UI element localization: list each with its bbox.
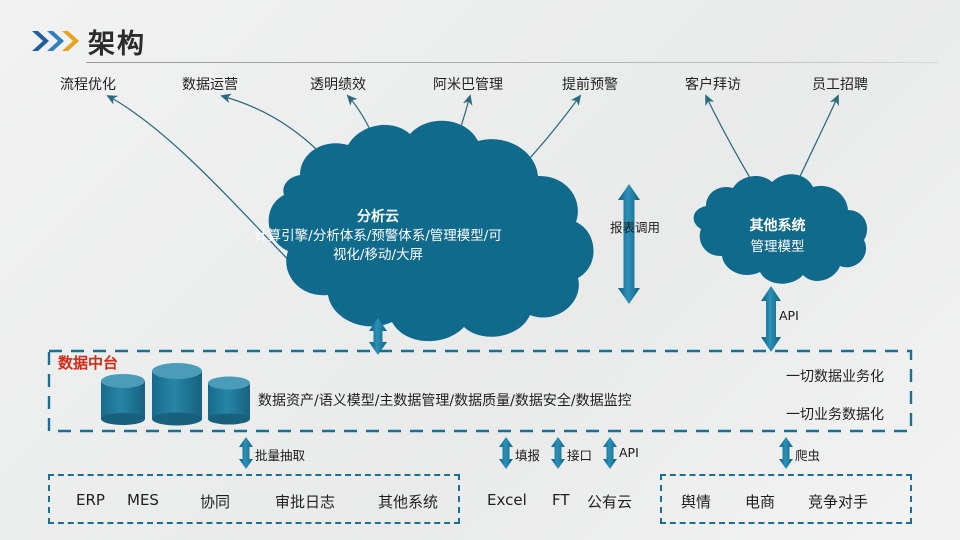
source-item[interactable]: 审批日志: [275, 491, 335, 512]
source-item[interactable]: 舆情: [681, 491, 711, 512]
source-item[interactable]: MES: [127, 491, 159, 509]
report-call-arrow: [618, 184, 640, 304]
source-item[interactable]: 电商: [745, 491, 775, 512]
source-item[interactable]: Excel: [487, 491, 527, 509]
outcome-label: 数据运营: [182, 74, 238, 94]
architecture-diagram: 架构: [0, 0, 960, 540]
band-side-label: 一切数据业务化: [786, 366, 884, 386]
data-platform-badge: 数据中台: [58, 352, 118, 373]
report-call-label: 报表调用: [610, 217, 660, 236]
cloud-api-label: API: [779, 308, 799, 323]
ingest-arrow-label: 接口: [567, 445, 592, 464]
data-cylinder: [101, 374, 145, 425]
ingest-arrow-label: 填报: [515, 445, 540, 464]
ingest-arrow-label: API: [619, 445, 639, 460]
outcome-label: 提前预警: [562, 74, 618, 94]
analysis-cloud-title: 分析云: [283, 208, 473, 227]
source-item[interactable]: FT: [552, 491, 570, 509]
outcome-label: 员工招聘: [812, 74, 868, 94]
data-cylinder: [152, 363, 202, 426]
other-cloud-title: 其他系统: [710, 216, 845, 237]
outcome-label: 客户拜访: [685, 74, 741, 94]
outcome-label: 流程优化: [60, 74, 116, 94]
data-cylinder: [208, 377, 250, 425]
band-side-label: 一切业务数据化: [786, 404, 884, 424]
cloud-api-arrow: [761, 286, 781, 352]
source-item[interactable]: 公有云: [587, 491, 632, 512]
ingest-arrow-label: 爬虫: [795, 445, 820, 464]
analysis-cloud-subtitle: 计算引擎/分析体系/预警体系/管理模型/可视化/移动/大屏: [252, 227, 504, 265]
source-item[interactable]: 其他系统: [378, 491, 438, 512]
outcome-label: 透明绩效: [310, 74, 366, 94]
source-item[interactable]: ERP: [76, 491, 105, 509]
outcome-label: 阿米巴管理: [433, 74, 503, 94]
source-item[interactable]: 竞争对手: [808, 491, 868, 512]
data-platform-description: 数据资产/语义模型/主数据管理/数据质量/数据安全/数据监控: [258, 390, 632, 410]
source-item[interactable]: 协同: [200, 491, 230, 512]
other-cloud-subtitle: 管理模型: [710, 237, 845, 258]
ingest-arrow-label: 批量抽取: [255, 445, 305, 464]
